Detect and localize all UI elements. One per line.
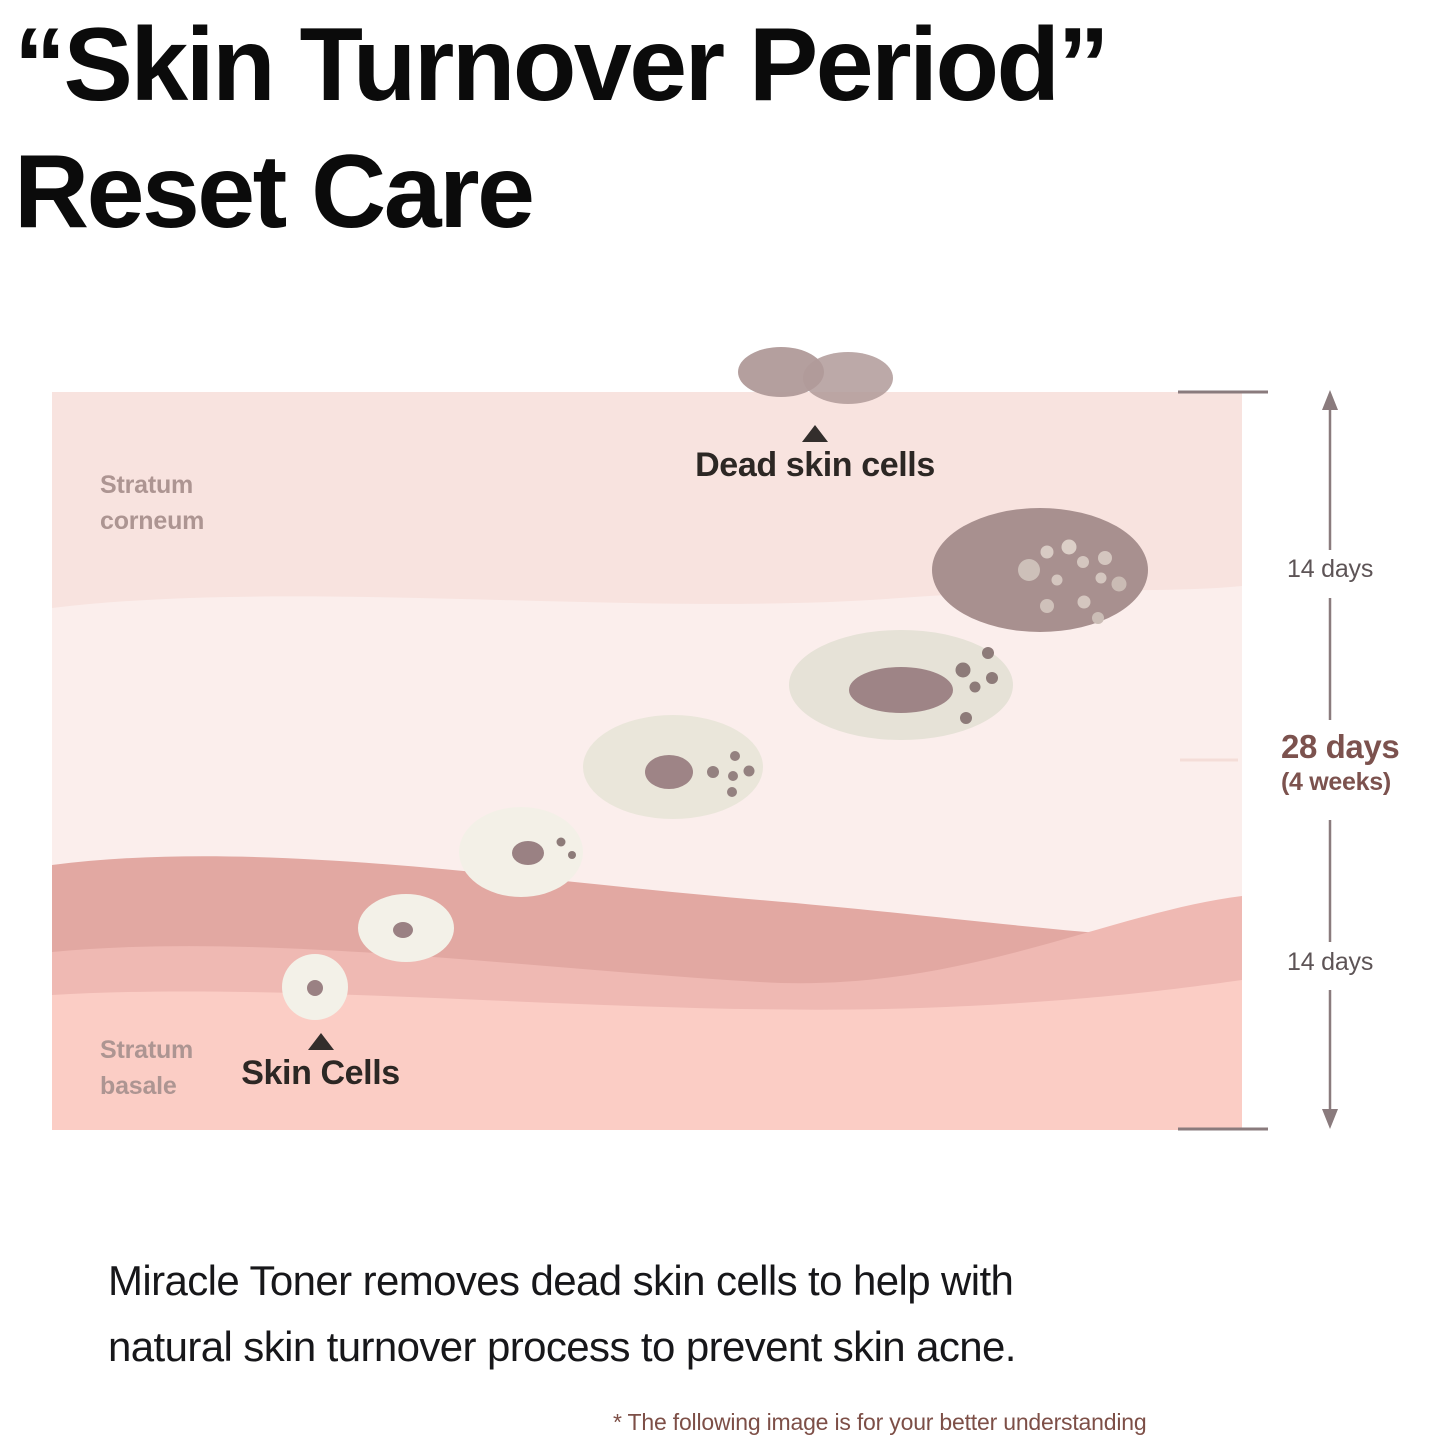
detached-dead-cell-right: [803, 352, 893, 404]
triangle-up-icon: [308, 1033, 334, 1050]
layer-label-stratum-corneum: Stratum corneum: [100, 468, 204, 539]
callout-dead-skin-cells-label: Dead skin cells: [690, 446, 940, 485]
callout-dead-skin-cells: Dead skin cells: [690, 425, 940, 485]
cell-stage-3: [459, 807, 583, 897]
timeline-label-top-14-days: 14 days: [1287, 555, 1373, 584]
page-title: “Skin Turnover Period” Reset Care: [14, 2, 1414, 256]
timeline-label-total-28-days: 28 days: [1281, 728, 1399, 766]
cell-stage-6-dead: [932, 508, 1148, 632]
timeline-label-total-4-weeks: (4 weeks): [1281, 768, 1391, 797]
cell-stage-1-new: [282, 954, 348, 1020]
cell-stage-5: [789, 630, 1013, 740]
turnover-timeline: 14 days 28 days (4 weeks) 14 days: [1175, 380, 1445, 1140]
triangle-up-icon: [802, 425, 828, 442]
diagram-footnote: * The following image is for your better…: [613, 1409, 1146, 1436]
cell-stage-4: [583, 715, 763, 819]
timeline-label-bottom-14-days: 14 days: [1287, 948, 1373, 977]
arrow-head-down: [1322, 1109, 1338, 1129]
product-caption: Miracle Toner removes dead skin cells to…: [108, 1248, 1358, 1381]
callout-skin-cells-label: Skin Cells: [238, 1054, 403, 1093]
layer-label-stratum-basale: Stratum basale: [100, 1033, 193, 1104]
cell-stage-2: [358, 894, 454, 962]
callout-skin-cells: Skin Cells: [238, 1033, 403, 1093]
